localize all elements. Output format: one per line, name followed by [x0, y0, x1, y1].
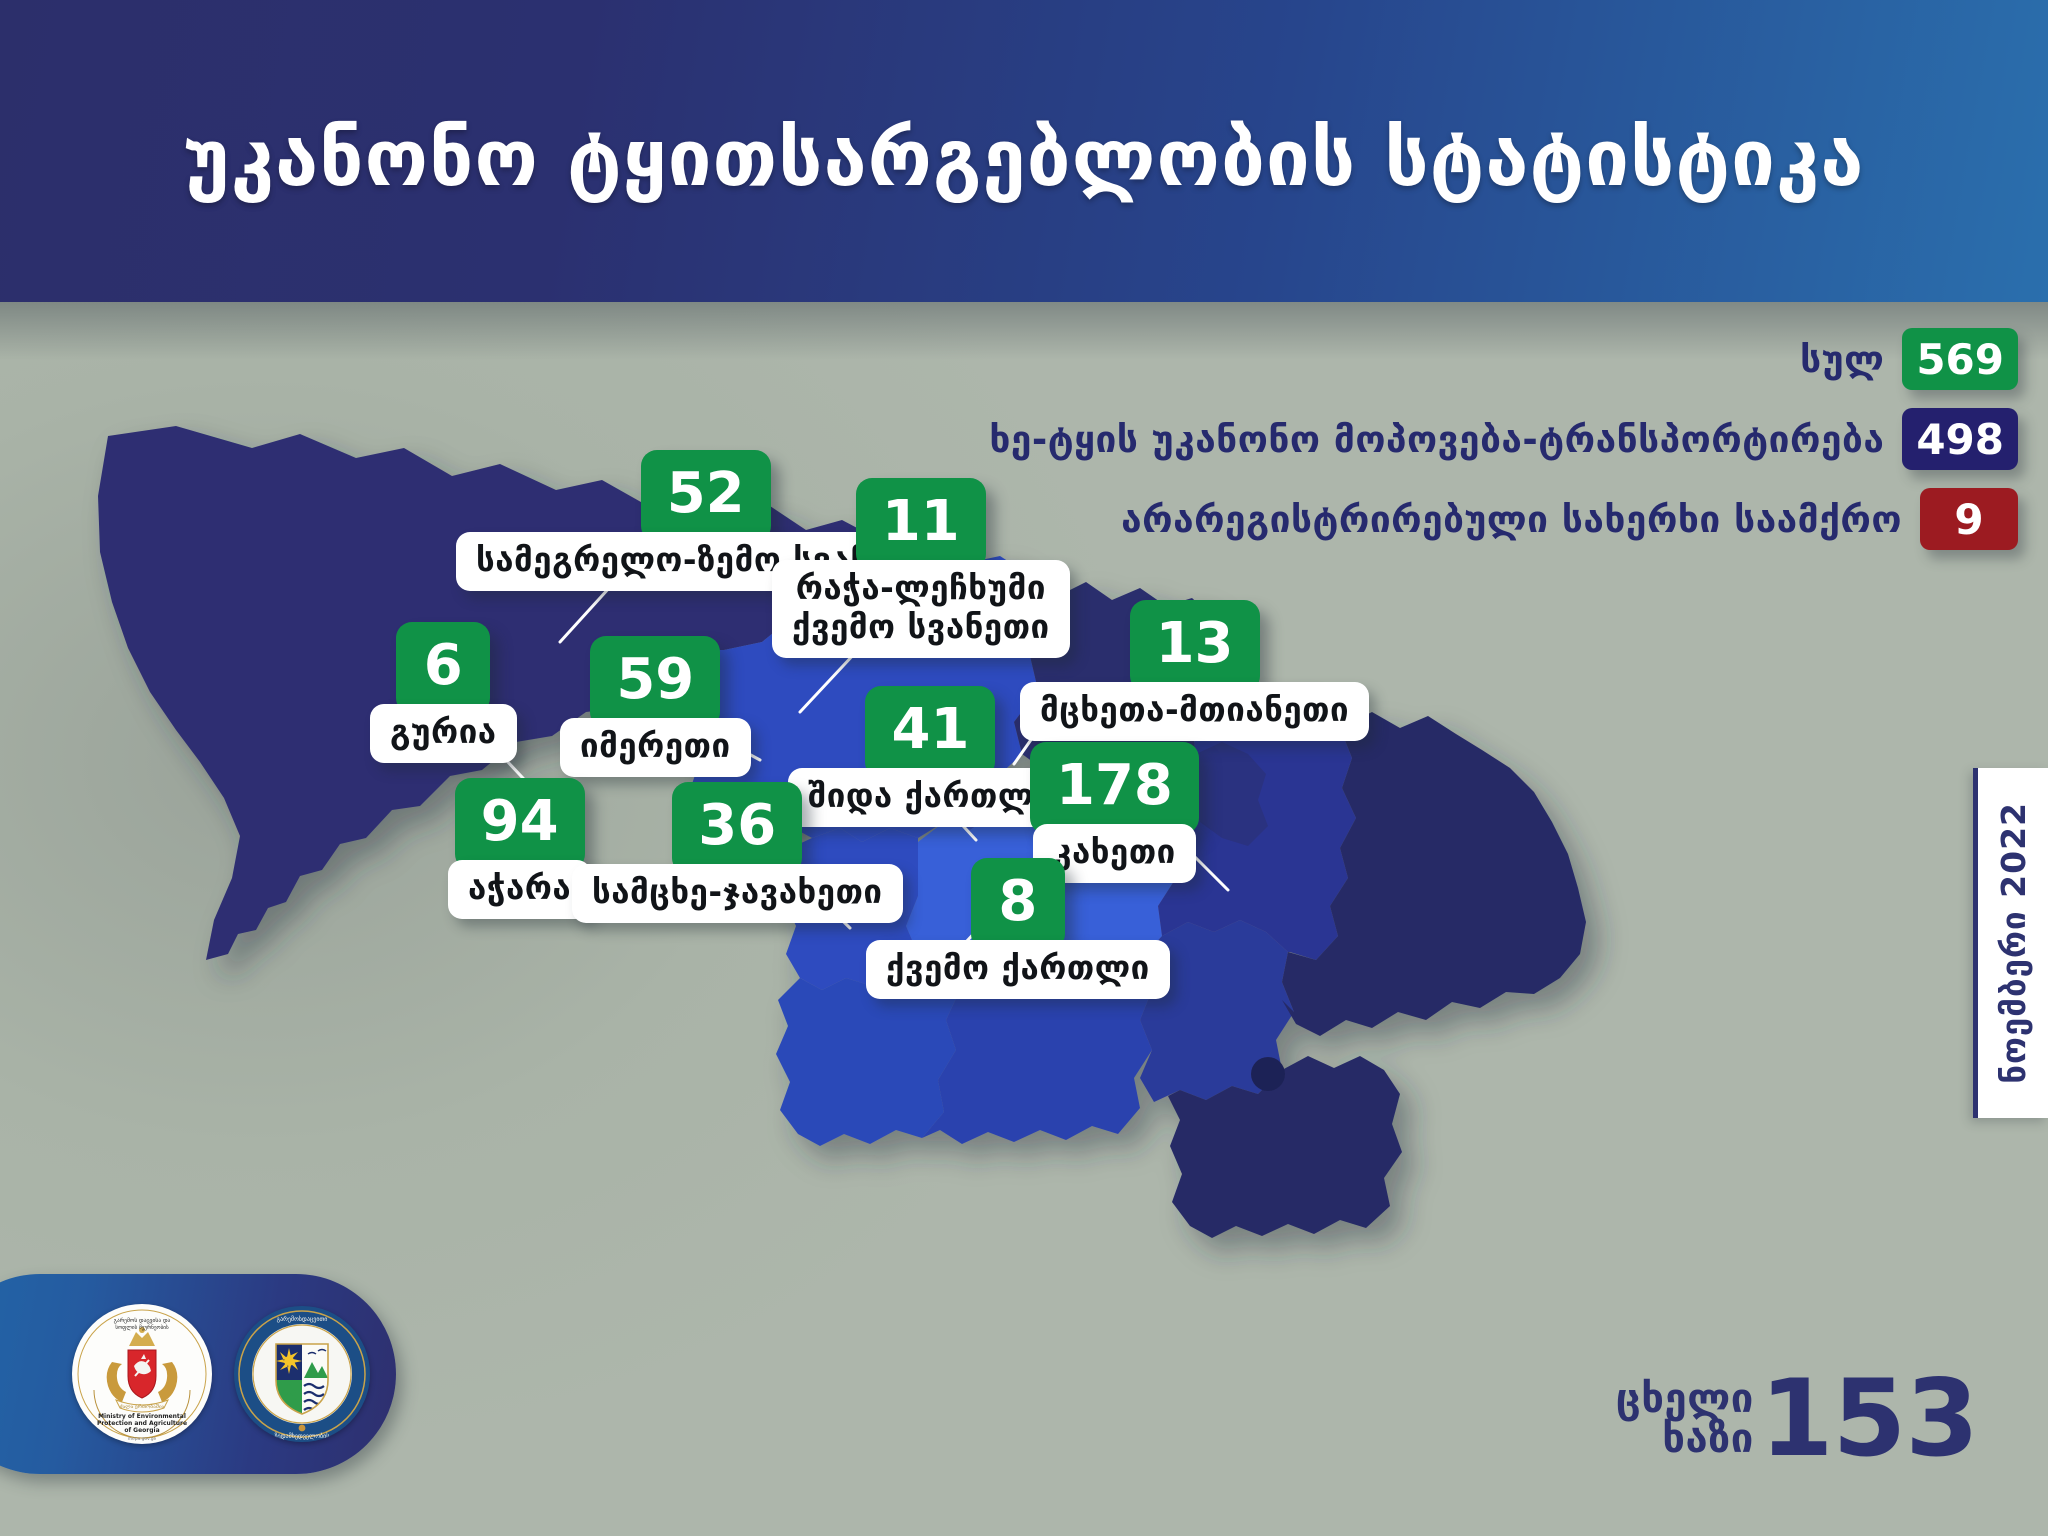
date-tab-label: ნოემბერი 2022: [1994, 802, 2033, 1084]
svg-text:mepa.gov.ge: mepa.gov.ge: [128, 1437, 157, 1442]
pin-value-mtskheta: 13: [1130, 600, 1260, 692]
pin-label-kvemo: ქვემო ქართლი: [866, 940, 1170, 999]
hotline-label-line1: ცხელი: [1616, 1379, 1754, 1419]
pin-imereti[interactable]: 59 იმერეთი: [560, 636, 751, 777]
pin-value-guria: 6: [396, 622, 490, 714]
hotline-words: ცხელი ხაზი: [1616, 1379, 1754, 1459]
svg-text:of Georgia: of Georgia: [124, 1427, 159, 1434]
pin-value-samtskhe: 36: [672, 782, 802, 874]
logo-pill: ძალა ერთობაშია გარემოს დაცვისა და სოფლის…: [0, 1274, 396, 1474]
svg-text:ზედამხედველობის: ზედამხედველობის: [275, 1433, 330, 1440]
hotline-label-line2: ხაზი: [1662, 1419, 1753, 1459]
pin-value-shida: 41: [865, 686, 995, 778]
pin-kvemo-kartli[interactable]: 8 ქვემო ქართლი: [866, 858, 1170, 999]
pin-value-kakheti: 178: [1030, 742, 1199, 834]
pin-label-guria: გურია: [370, 704, 517, 763]
hotline-number: 153: [1760, 1370, 1978, 1468]
svg-text:Protection and Agriculture: Protection and Agriculture: [97, 1420, 187, 1427]
date-tab: ნოემბერი 2022: [1973, 768, 2048, 1118]
pin-value-racha: 11: [856, 478, 986, 570]
pin-samtskhe-javakheti[interactable]: 36 სამცხე-ჯავახეთი: [572, 782, 903, 923]
pin-value-kvemo: 8: [971, 858, 1065, 950]
legend-chip-illegal-logging: 498: [1902, 408, 2018, 470]
svg-text:ძალა ერთობაშია: ძალა ერთობაშია: [120, 1403, 165, 1410]
pin-label-imereti: იმერეთი: [560, 718, 751, 777]
pin-label-samtskhe: სამცხე-ჯავახეთი: [572, 864, 903, 923]
legend-chip-unregistered-sawmill: 9: [1920, 488, 2018, 550]
page-title: უკანონო ტყითსარგებლობის სტატისტიკა: [184, 114, 1865, 204]
pin-label-adjara: აჭარა: [448, 860, 591, 919]
pin-value-samegrelo: 52: [641, 450, 771, 542]
legend-chip-total: 569: [1902, 328, 2018, 390]
hotline-block: ცხელი ხაზი 153: [1616, 1370, 1978, 1468]
pin-adjara[interactable]: 94 აჭარა: [448, 778, 591, 919]
pin-value-imereti: 59: [590, 636, 720, 728]
ministry-emblem-icon: ძალა ერთობაშია გარემოს დაცვისა და სოფლის…: [72, 1304, 212, 1444]
header-banner: უკანონო ტყითსარგებლობის სტატისტიკა: [0, 0, 2048, 302]
svg-text:გარემოსდაცვითი: გარემოსდაცვითი: [277, 1316, 328, 1323]
pin-value-adjara: 94: [455, 778, 585, 870]
svg-text:გარემოს დაცვისა და: გარემოს დაცვისა და: [114, 1317, 171, 1324]
pin-guria[interactable]: 6 გურია: [370, 622, 517, 763]
legend-label-total: სულ: [1800, 338, 1884, 381]
map-region-tbilisi: [1251, 1057, 1285, 1091]
svg-text:სოფლის მეურნეობის: სოფლის მეურნეობის: [115, 1324, 169, 1331]
environmental-supervision-emblem-icon: გარემოსდაცვითი ზედამხედველობის: [234, 1306, 370, 1442]
svg-text:Ministry of Environmental: Ministry of Environmental: [98, 1413, 186, 1420]
